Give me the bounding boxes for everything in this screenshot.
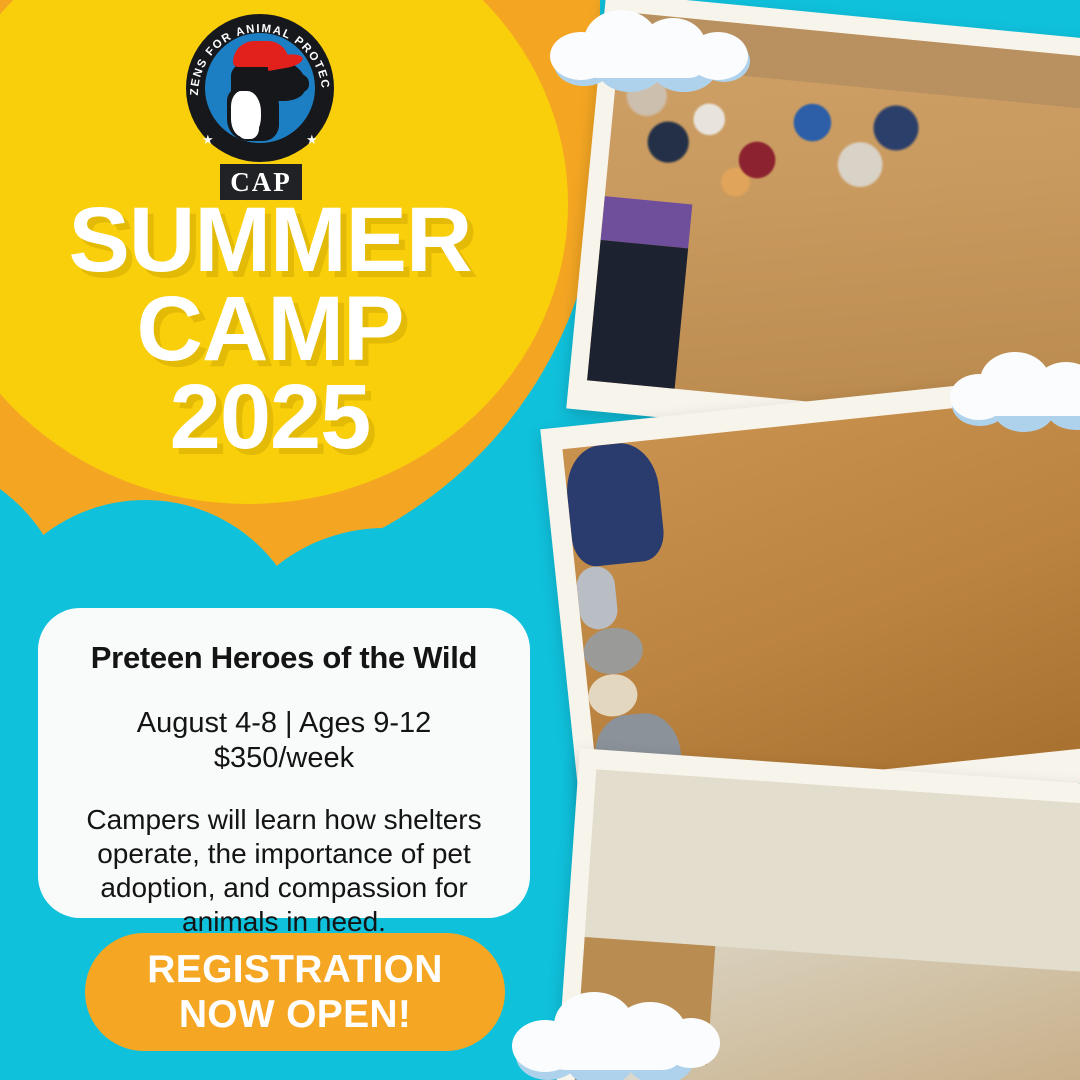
cloud-top xyxy=(548,8,748,86)
cap-logo: CITIZENS FOR ANIMAL PROTECTION ★ ★ CAP xyxy=(186,14,334,204)
cta-line-1: REGISTRATION xyxy=(147,947,442,992)
star-icon: ★ xyxy=(202,132,214,148)
camp-description: Campers will learn how shelters operate,… xyxy=(64,803,504,940)
camp-price: $350/week xyxy=(64,741,504,776)
cta-line-2: NOW OPEN! xyxy=(179,992,411,1037)
headline-line-1: SUMMER xyxy=(0,198,540,283)
headline-line-3: 2025 xyxy=(0,375,540,460)
camp-session-title: Preteen Heroes of the Wild xyxy=(64,640,504,676)
star-icon: ★ xyxy=(306,132,318,148)
cloud-right xyxy=(950,352,1080,428)
headline-line-2: CAMP xyxy=(0,287,540,372)
camp-info-card: Preteen Heroes of the Wild August 4-8 | … xyxy=(38,608,530,918)
svg-text:CITIZENS FOR ANIMAL PROTECTION: CITIZENS FOR ANIMAL PROTECTION xyxy=(186,14,331,96)
cloud-bottom xyxy=(510,988,720,1080)
logo-arc-label: CITIZENS FOR ANIMAL PROTECTION xyxy=(186,14,331,96)
summer-camp-poster: CITIZENS FOR ANIMAL PROTECTION ★ ★ CAP S… xyxy=(0,0,1080,1080)
camp-dates-ages: August 4-8 | Ages 9-12 xyxy=(64,706,504,741)
camp-details: August 4-8 | Ages 9-12 $350/week xyxy=(64,706,504,777)
page-title: SUMMER CAMP 2025 xyxy=(0,198,540,460)
photo-kitten-circle xyxy=(562,393,1080,800)
registration-button[interactable]: REGISTRATION NOW OPEN! xyxy=(85,933,505,1051)
